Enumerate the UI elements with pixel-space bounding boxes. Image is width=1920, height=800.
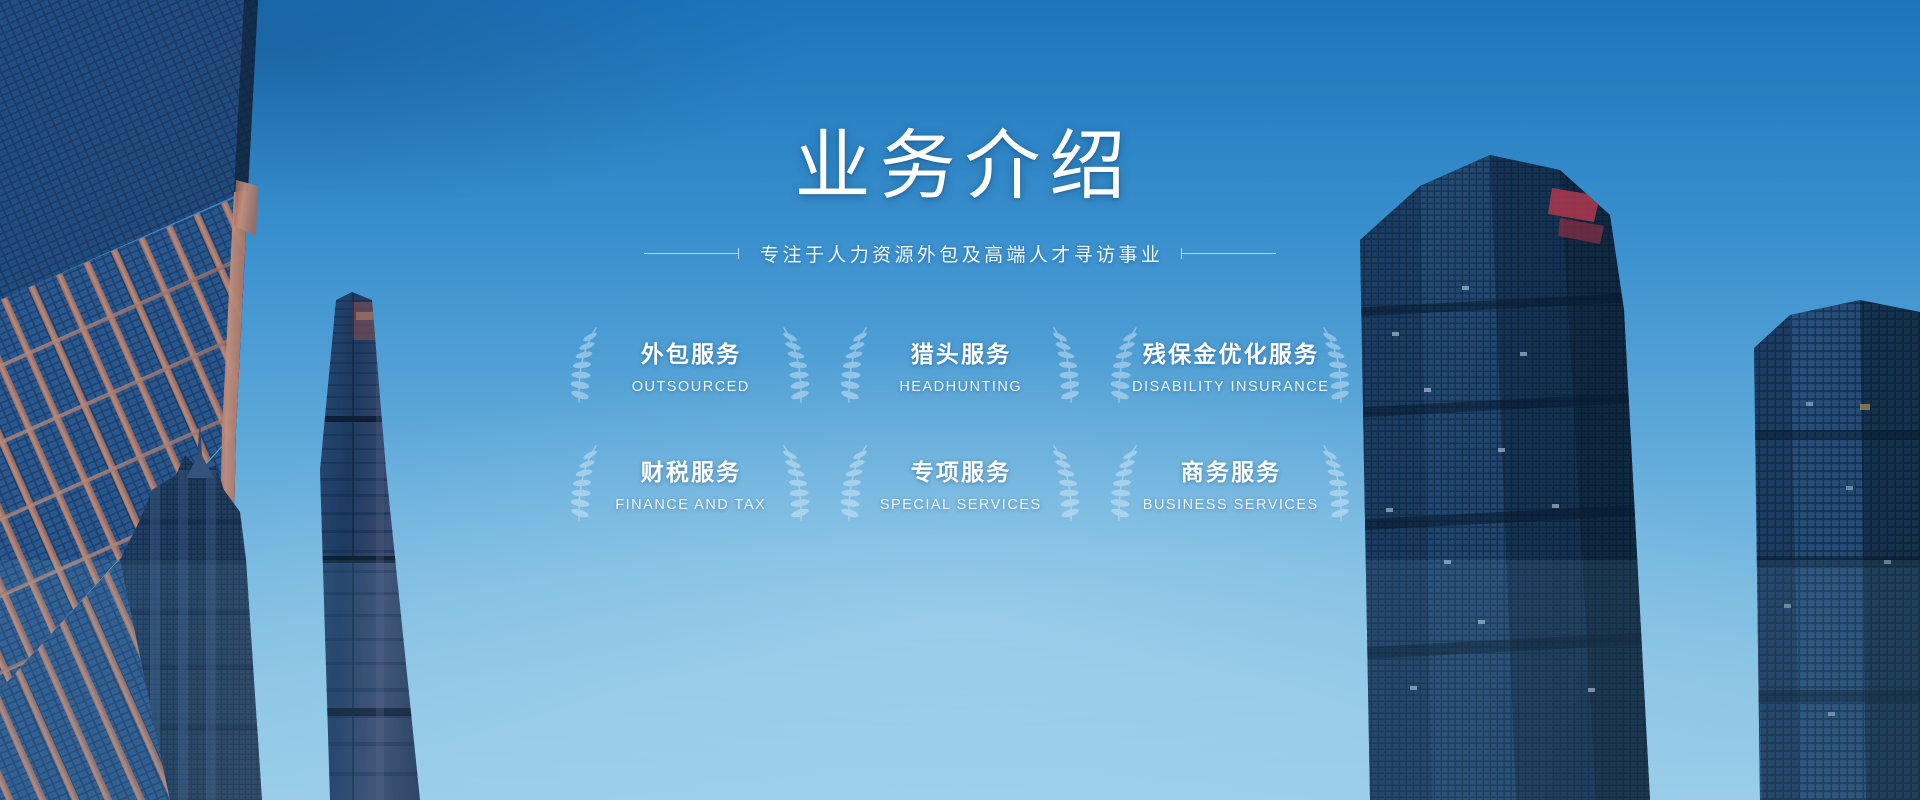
service-item[interactable]: 猎头服务 HEADHUNTING	[825, 315, 1095, 415]
laurel-wreath-icon	[777, 323, 811, 407]
service-title-en: SPECIAL SERVICES	[878, 497, 1041, 513]
service-title-cn: 残保金优化服务	[1141, 335, 1320, 369]
service-title-en: OUTSOURCED	[630, 379, 750, 395]
divider-right-icon	[1181, 253, 1276, 254]
service-item[interactable]: 残保金优化服务 DISABILITY INSURANCE	[1095, 315, 1365, 415]
divider-left-icon	[644, 253, 739, 254]
service-title-cn: 专项服务	[909, 453, 1012, 487]
service-title-cn: 财税服务	[639, 453, 742, 487]
page-title: 业务介绍	[786, 128, 1135, 204]
subtitle-row: 专注于人力资源外包及高端人才寻访事业	[644, 240, 1277, 267]
service-title-cn: 外包服务	[639, 335, 742, 369]
service-item[interactable]: 外包服务 OUTSOURCED	[555, 315, 825, 415]
laurel-wreath-icon	[1317, 441, 1351, 525]
service-grid: 外包服务 OUTSOURCED	[555, 315, 1365, 533]
laurel-wreath-icon	[1047, 323, 1081, 407]
page-subtitle: 专注于人力资源外包及高端人才寻访事业	[757, 240, 1164, 267]
service-item[interactable]: 商务服务 BUSINESS SERVICES	[1095, 433, 1365, 533]
service-title-en: FINANCE AND TAX	[614, 497, 766, 513]
laurel-wreath-icon	[1109, 441, 1143, 525]
service-title-en: BUSINESS SERVICES	[1141, 497, 1318, 513]
laurel-wreath-icon	[839, 323, 873, 407]
laurel-wreath-icon	[569, 441, 603, 525]
service-title-en: DISABILITY INSURANCE	[1131, 379, 1330, 395]
banner-content: 业务介绍 专注于人力资源外包及高端人才寻访事业	[0, 0, 1920, 800]
banner-hero: 业务介绍 专注于人力资源外包及高端人才寻访事业	[0, 0, 1920, 800]
laurel-wreath-icon	[777, 441, 811, 525]
service-item[interactable]: 专项服务 SPECIAL SERVICES	[825, 433, 1095, 533]
laurel-wreath-icon	[839, 441, 873, 525]
service-item[interactable]: 财税服务 FINANCE AND TAX	[555, 433, 825, 533]
laurel-wreath-icon	[569, 323, 603, 407]
service-title-en: HEADHUNTING	[898, 379, 1022, 395]
service-title-cn: 商务服务	[1179, 453, 1282, 487]
laurel-wreath-icon	[1047, 441, 1081, 525]
service-title-cn: 猎头服务	[909, 335, 1012, 369]
